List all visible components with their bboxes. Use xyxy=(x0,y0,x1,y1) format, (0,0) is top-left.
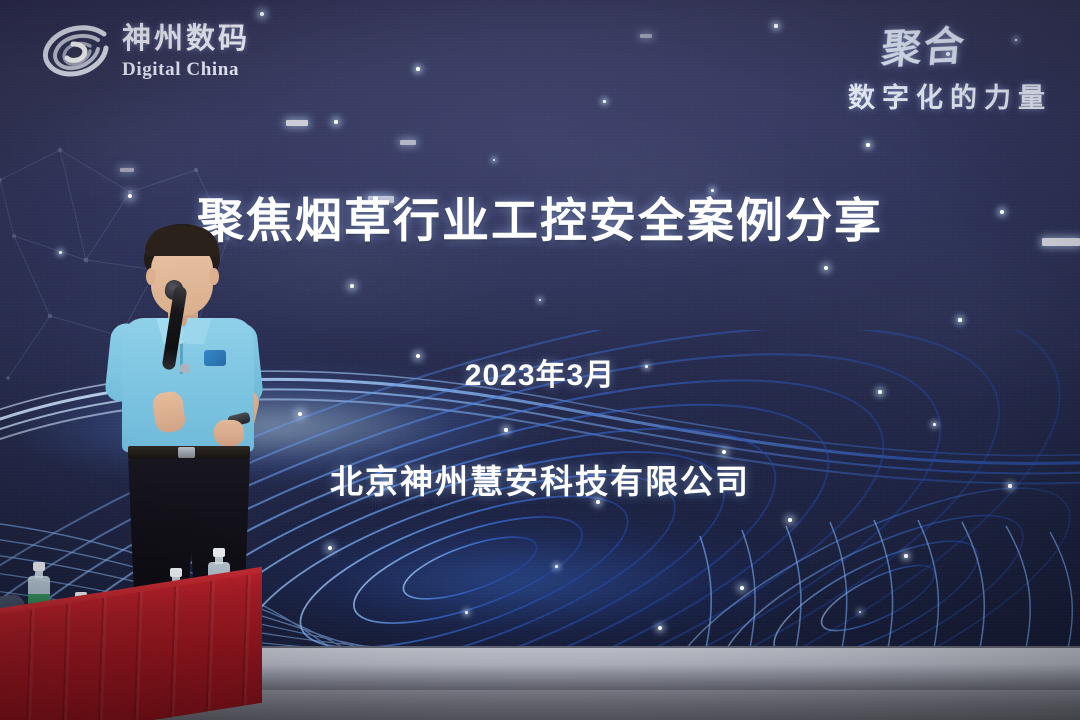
logo-english-name: Digital China xyxy=(122,60,250,79)
presenter-hair-top xyxy=(145,226,219,256)
swirl-spiral-logo-icon xyxy=(40,22,112,82)
microphone-base xyxy=(179,363,190,373)
conference-stage-scene: 神州数码 Digital China 聚合 数字化的力量 聚焦烟草行业工控安全案… xyxy=(0,0,1080,720)
presenter-left-ear xyxy=(146,268,156,285)
light-dash xyxy=(400,140,416,145)
slogan-subtitle: 数字化的力量 xyxy=(848,76,1052,115)
presenter-belt-buckle xyxy=(178,447,195,458)
presenter-right-hand xyxy=(214,420,244,446)
digital-china-logo: 神州数码 Digital China xyxy=(40,22,250,82)
logo-chinese-name: 神州数码 xyxy=(122,25,250,54)
presenter-right-ear xyxy=(209,268,219,285)
light-dash xyxy=(286,120,308,126)
bottle-neck xyxy=(35,570,43,578)
presenter-speaker xyxy=(100,224,285,624)
bottle-neck xyxy=(215,556,223,564)
bottle-cap xyxy=(33,562,45,571)
presenter-shirt-logo xyxy=(204,350,226,366)
bottle-cap xyxy=(213,548,225,557)
slogan-main-calligraphy: 聚合 xyxy=(845,13,968,76)
event-slogan: 聚合 数字化的力量 xyxy=(848,16,1052,115)
digital-china-wordmark: 神州数码 Digital China xyxy=(122,25,250,79)
light-dash xyxy=(120,168,134,172)
light-dash xyxy=(640,34,652,38)
bottle-cap xyxy=(170,568,182,577)
